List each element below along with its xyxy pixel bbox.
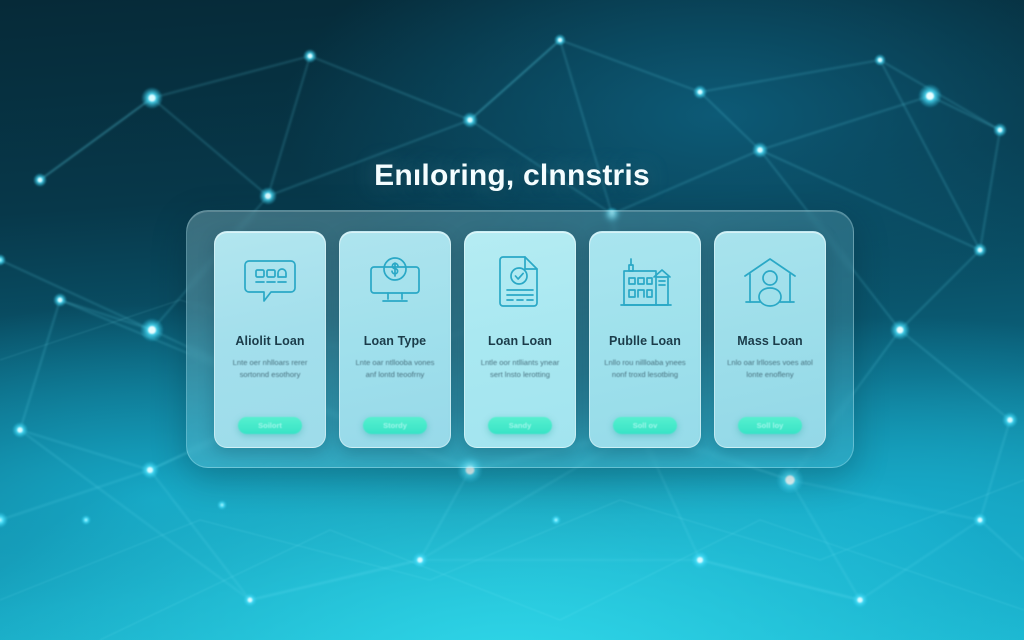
card-title: Loan Loan — [488, 334, 552, 348]
chat-bubble-icon — [243, 250, 297, 312]
card-action-button[interactable]: Stordy — [363, 417, 427, 434]
page-title: Enıloring, clnnstris — [0, 159, 1024, 193]
card-action-button[interactable]: Soilort — [238, 417, 302, 434]
card-description: Lnllo rou nillloaba ynees nonf troxd les… — [599, 357, 691, 382]
card-title: Loan Type — [364, 334, 426, 348]
card-about-loan[interactable]: Aliolit Loan Lnte oer nhlloars rerer sor… — [214, 231, 326, 448]
card-action-button[interactable]: Soll loy — [738, 417, 802, 434]
card-title: Mass Loan — [737, 334, 803, 348]
card-mass-loan[interactable]: Mass Loan Lnlo oar lrlloses voes atol lo… — [714, 231, 826, 448]
document-check-icon — [497, 250, 543, 312]
card-title: Aliolit Loan — [235, 334, 304, 348]
monitor-dollar-icon — [368, 250, 422, 312]
cards-panel: Aliolit Loan Lnte oer nhlloars rerer sor… — [186, 210, 854, 468]
card-title: Publle Loan — [609, 334, 681, 348]
card-description: Lntle oor ntlliants ynear sert lnsto ler… — [474, 357, 566, 382]
card-description: Lnte oer nhlloars rerer sortonnd esothor… — [224, 357, 316, 382]
card-description: Lnlo oar lrlloses voes atol lonte enofle… — [724, 357, 816, 382]
card-loan-type[interactable]: Loan Type Lnte oar ntllooba vones anf lo… — [339, 231, 451, 448]
card-public-loan[interactable]: Publle Loan Lnllo rou nillloaba ynees no… — [589, 231, 701, 448]
card-action-button[interactable]: Soll ov — [613, 417, 677, 434]
bank-building-icon — [617, 250, 673, 312]
card-action-button[interactable]: Sandy — [488, 417, 552, 434]
card-loan-document[interactable]: Loan Loan Lntle oor ntlliants ynear sert… — [464, 231, 576, 448]
house-person-icon — [742, 250, 798, 312]
card-description: Lnte oar ntllooba vones anf lontd teoofr… — [349, 357, 441, 382]
